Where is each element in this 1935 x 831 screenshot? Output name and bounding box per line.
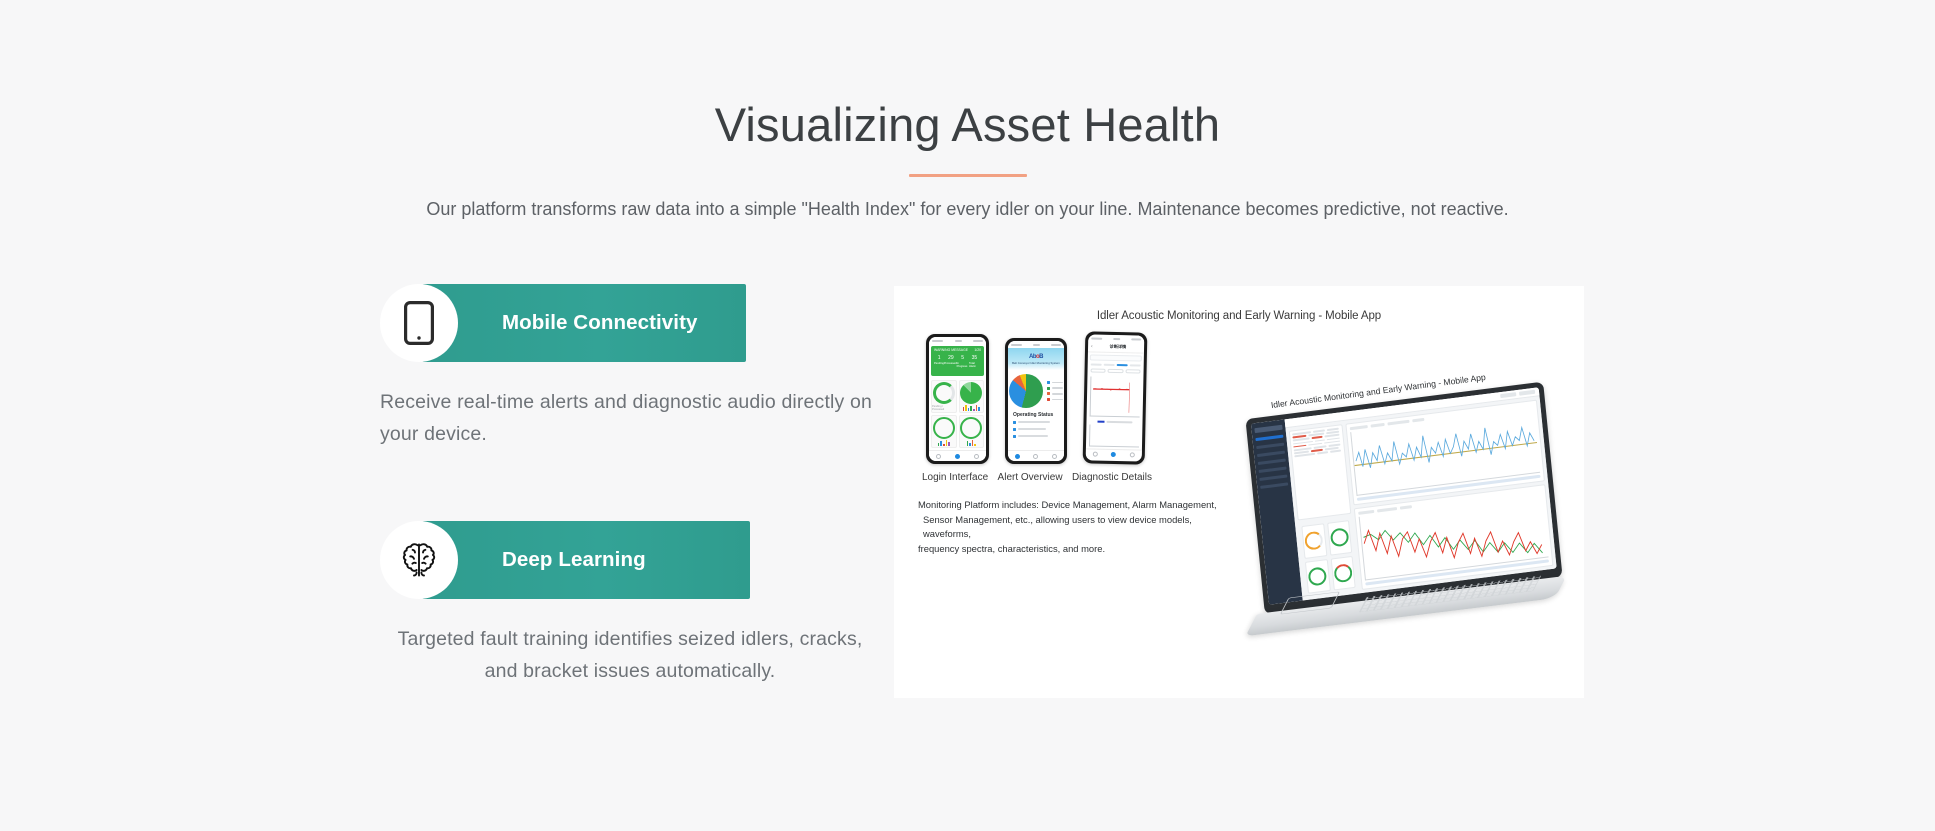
product-illustration-card: Idler Acoustic Monitoring and Early Warn…	[894, 286, 1584, 698]
laptop-mockup: Idler Acoustic Monitoring and Early Warn…	[1242, 378, 1572, 678]
list-item[interactable]	[1008, 419, 1064, 426]
list-item[interactable]	[1008, 433, 1064, 440]
dashboard-body	[1286, 396, 1557, 600]
phone-screen: ‹ 诊断详情	[1086, 334, 1145, 461]
page-root: Visualizing Asset Health Our platform tr…	[0, 0, 1935, 831]
tab[interactable]	[1091, 363, 1102, 366]
sidebar-item[interactable]	[1258, 459, 1286, 465]
description-line: frequency spectra, characteristics, and …	[918, 542, 1238, 557]
filter-pill[interactable]	[1091, 368, 1106, 372]
laptop-base	[1242, 574, 1572, 648]
filter-pill[interactable]	[1125, 369, 1140, 373]
phone-mockup-alert-overview: AboB Belt Conveyor Idler Monitoring Syst…	[1005, 338, 1067, 464]
alarm-stat-labels: Pending Processed In Progress Total Alar…	[934, 362, 981, 368]
feature-description: Receive real-time alerts and diagnostic …	[380, 386, 890, 451]
app-tagline: Belt Conveyor Idler Monitoring System	[1012, 361, 1060, 365]
gauge-ring	[1330, 528, 1350, 548]
illustration-description: Monitoring Platform includes: Device Man…	[918, 498, 1238, 556]
feature-badge-bar[interactable]: Mobile Connectivity	[422, 284, 746, 362]
feature-badge-bar[interactable]: Deep Learning	[422, 521, 750, 599]
stat-label: Pending	[934, 362, 944, 368]
nav-home-icon[interactable]	[1093, 452, 1098, 457]
app-header: AboB Belt Conveyor Idler Monitoring Syst…	[1008, 348, 1064, 370]
feature-label: Deep Learning	[502, 548, 646, 572]
nav-profile-icon[interactable]	[974, 454, 979, 459]
phone-caption: Login Interface	[922, 472, 988, 483]
waveform-chart	[1090, 376, 1141, 417]
page-subtitle: Our platform transforms raw data into a …	[0, 199, 1935, 220]
nav-home-icon[interactable]	[1015, 454, 1020, 459]
tab[interactable]	[1117, 364, 1128, 367]
list-item[interactable]	[1008, 426, 1064, 433]
phone-status-bar	[1008, 341, 1064, 348]
stat-value: 35	[972, 355, 978, 361]
phone-nav-bar[interactable]	[1086, 448, 1142, 460]
legend-item	[1047, 387, 1063, 390]
filter-row[interactable]	[1087, 367, 1143, 375]
section-title: Operating Status	[1008, 410, 1064, 419]
mini-bar-chart	[938, 440, 950, 446]
description-line: Monitoring Platform includes: Device Man…	[918, 498, 1238, 513]
feature-badge-row[interactable]: Mobile Connectivity	[380, 284, 900, 362]
nav-settings-icon[interactable]	[1033, 454, 1038, 459]
mobile-phone-icon	[380, 284, 458, 362]
chevron-left-icon[interactable]: ‹	[1091, 344, 1093, 349]
stat-value: 1	[938, 355, 941, 361]
stat-label: In Progress	[957, 362, 969, 368]
gauge-tile	[1301, 523, 1327, 558]
title-divider	[909, 174, 1027, 177]
alarm-stats: 1 29 5 35	[934, 355, 981, 361]
secondary-chart	[1089, 424, 1139, 447]
description-line: Sensor Management, etc., allowing users …	[918, 513, 1238, 542]
gauge-ring	[933, 382, 955, 404]
stat-label: Processed	[944, 362, 957, 368]
stat-value: 5	[961, 355, 964, 361]
dashboard-tiles: Pending / Processed	[929, 378, 986, 450]
info-card	[1090, 354, 1142, 361]
legend-item	[1047, 392, 1063, 395]
nav-dashboard-icon[interactable]	[955, 454, 960, 459]
pie-chart	[1009, 374, 1043, 408]
pie-legend	[1047, 381, 1063, 401]
sidebar-item[interactable]	[1259, 466, 1287, 472]
mini-bar-chart	[963, 405, 980, 411]
feature-deep-learning: Deep Learning Targeted	[380, 521, 900, 688]
app-logo: AboB	[1029, 354, 1043, 360]
sidebar-item[interactable]	[1259, 474, 1287, 480]
sidebar-item[interactable]	[1256, 443, 1284, 449]
spectrum-plot	[1359, 494, 1549, 581]
nav-profile-icon[interactable]	[1130, 453, 1135, 458]
legend-item	[1047, 398, 1063, 401]
legend-item	[1047, 381, 1063, 384]
toolbar-control[interactable]	[1500, 392, 1516, 397]
heading-section: Visualizing Asset Health Our platform tr…	[0, 0, 1935, 220]
nav-profile-icon[interactable]	[1052, 454, 1057, 459]
phone-screen: AboB Belt Conveyor Idler Monitoring Syst…	[1008, 341, 1064, 461]
device-table	[1289, 424, 1352, 520]
gauge-tile	[1327, 520, 1353, 555]
mini-bar-chart	[967, 440, 976, 446]
dashboard-tile	[959, 415, 985, 448]
gauge-ring	[933, 417, 955, 439]
nav-dashboard-icon[interactable]	[1111, 452, 1116, 457]
alarm-banner-title: WARNING MESSAGE	[934, 348, 981, 352]
sidebar-item[interactable]	[1260, 482, 1288, 488]
screen-header: ‹ 诊断详情	[1088, 341, 1144, 353]
phone-mockup-diagnostic-details: ‹ 诊断详情	[1083, 331, 1148, 464]
sidebar-item[interactable]	[1257, 451, 1285, 457]
dashboard-tile	[959, 380, 985, 413]
chart-legend	[1086, 420, 1142, 424]
laptop-screen	[1251, 387, 1557, 605]
stat-value: 29	[948, 355, 954, 361]
phone-caption: Diagnostic Details	[1072, 472, 1152, 483]
phone-screen: 1/20 WARNING MESSAGE 1 29 5 35 Pending P…	[929, 337, 986, 461]
phone-status-bar	[929, 337, 986, 344]
phone-mockup-login: 1/20 WARNING MESSAGE 1 29 5 35 Pending P…	[926, 334, 989, 464]
sidebar-item[interactable]	[1255, 435, 1283, 441]
illustration-title: Idler Acoustic Monitoring and Early Warn…	[894, 310, 1584, 322]
nav-home-icon[interactable]	[936, 454, 941, 459]
screen-title: 诊断详情	[1095, 344, 1141, 351]
gauge-ring	[960, 417, 982, 439]
gauge-ring	[1304, 531, 1324, 551]
status-list	[1008, 419, 1064, 450]
illustration-canvas: Idler Acoustic Monitoring and Early Warn…	[894, 286, 1584, 698]
page-title: Visualizing Asset Health	[0, 98, 1935, 152]
feature-description: Targeted fault training identifies seize…	[380, 623, 880, 688]
waveform-plot	[1350, 409, 1540, 496]
toolbar-control[interactable]	[1519, 390, 1535, 395]
tile-caption: Pending / Processed	[932, 405, 956, 411]
logo-part: Ab	[1029, 354, 1036, 360]
logo-part: B	[1039, 354, 1043, 360]
dashboard-tile	[931, 415, 957, 448]
pie-chart	[960, 382, 982, 404]
filter-pill[interactable]	[1108, 369, 1123, 373]
tab[interactable]	[1104, 364, 1115, 367]
feature-list: Mobile Connectivity Receive real-time al…	[380, 284, 900, 687]
tab[interactable]	[1130, 364, 1141, 367]
feature-label: Mobile Connectivity	[502, 311, 698, 335]
brain-icon	[380, 521, 458, 599]
feature-badge-row[interactable]: Deep Learning	[380, 521, 900, 599]
dashboard-main	[1285, 387, 1557, 600]
alarm-banner: 1/20 WARNING MESSAGE 1 29 5 35 Pending P…	[931, 346, 984, 376]
stat-label: Total Alarm	[969, 362, 981, 368]
phone-nav-bar[interactable]	[929, 450, 986, 461]
phone-nav-bar[interactable]	[1008, 450, 1064, 461]
sidebar-logo	[1254, 425, 1282, 433]
feature-mobile-connectivity: Mobile Connectivity Receive real-time al…	[380, 284, 900, 451]
dashboard-tile: Pending / Processed	[931, 380, 957, 413]
right-column	[1345, 400, 1553, 590]
phone-caption: Alert Overview	[998, 472, 1063, 483]
phone-captions: Login Interface Alert Overview Diagnosti…	[922, 472, 1152, 483]
status-pie-chart	[1008, 370, 1064, 410]
